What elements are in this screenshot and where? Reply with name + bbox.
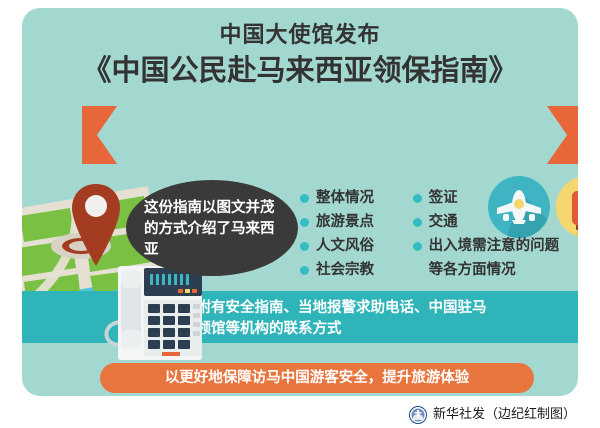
bullet-dot-icon: [300, 266, 309, 275]
bullet-column-left: 整体情况 旅游景点 人文风俗 社会宗教: [300, 186, 399, 282]
content-panel: 中国大使馆发布 《中国公民赴马来西亚领保指南》 当地时间9月26日 中国驻马来西…: [22, 8, 578, 396]
ribbon-body: [82, 106, 578, 164]
desk-telephone-icon: [100, 260, 208, 372]
bullet-label: 出入境需注意的问题: [429, 234, 560, 258]
footer-credit: 新华社发（边纪红制图）: [0, 402, 600, 428]
ribbon-line-1: 当地时间9月26日 中国驻马来西亚大使馆: [194, 117, 471, 133]
location-pin-icon: [68, 182, 124, 268]
bullet-dot-icon: [413, 194, 422, 203]
bullet-column-right: 签证 交通 出入境需注意的问题 等各方面情况: [413, 186, 578, 282]
speech-bubble: 这份指南以图文并茂的方式介绍了马来西亚: [126, 180, 298, 276]
bullet-label: 旅游景点: [316, 210, 374, 234]
list-item: 社会宗教: [300, 258, 399, 282]
xinhua-logo-icon: [409, 406, 427, 424]
bullet-label: 整体情况: [316, 186, 374, 210]
attachment-info-text: 还附有安全指南、当地报警求助电话、中国驻马 使领馆等机构的联系方式: [182, 298, 578, 340]
list-item: 人文风俗: [300, 234, 399, 258]
page-title: 中国大使馆发布 《中国公民赴马来西亚领保指南》: [22, 22, 578, 89]
summary-pill-text: 以更好地保障访马中国游客安全，提升旅游体验: [100, 368, 534, 389]
bullet-label: 签证: [429, 186, 458, 210]
list-item: 整体情况: [300, 186, 399, 210]
speech-bubble-text: 这份指南以图文并茂的方式介绍了马来西亚: [144, 198, 284, 261]
bullet-label: 社会宗教: [316, 258, 374, 282]
bullet-dot-icon: [413, 242, 422, 251]
footer-credit-text: 新华社发（边纪红制图）: [433, 406, 576, 424]
bullet-label: 交通: [429, 210, 458, 234]
topic-bullets: 整体情况 旅游景点 人文风俗 社会宗教 签证: [300, 186, 578, 282]
list-item: 等各方面情况: [413, 258, 578, 282]
infographic-root: 中国大使馆发布 《中国公民赴马来西亚领保指南》 当地时间9月26日 中国驻马来西…: [0, 0, 600, 428]
teal-line-1: 还附有安全指南、当地报警求助电话、中国驻马: [182, 300, 487, 316]
bullet-label: 等各方面情况: [429, 258, 516, 282]
list-item: 交通: [413, 210, 578, 234]
list-item: 出入境需注意的问题: [413, 234, 578, 258]
bullet-dot-placeholder: [413, 266, 422, 275]
bullet-dot-icon: [300, 218, 309, 227]
summary-pill: 以更好地保障访马中国游客安全，提升旅游体验: [100, 363, 534, 393]
telephone-illustration: [100, 260, 208, 370]
list-item: 签证: [413, 186, 578, 210]
bullet-dot-icon: [413, 218, 422, 227]
bullet-label: 人文风俗: [316, 234, 374, 258]
bullet-dot-icon: [300, 242, 309, 251]
ribbon-text: 当地时间9月26日 中国驻马来西亚大使馆 在吉隆坡国际机场发布《中国公民赴马来西…: [82, 115, 578, 157]
bullet-dot-icon: [300, 194, 309, 203]
announcement-ribbon: 当地时间9月26日 中国驻马来西亚大使馆 在吉隆坡国际机场发布《中国公民赴马来西…: [82, 106, 578, 164]
title-line-1: 中国大使馆发布: [22, 22, 578, 50]
list-item: 旅游景点: [300, 210, 399, 234]
ribbon-line-2: 在吉隆坡国际机场发布《中国公民赴马来西亚领保指南》: [151, 138, 514, 154]
title-line-2: 《中国公民赴马来西亚领保指南》: [22, 51, 578, 89]
